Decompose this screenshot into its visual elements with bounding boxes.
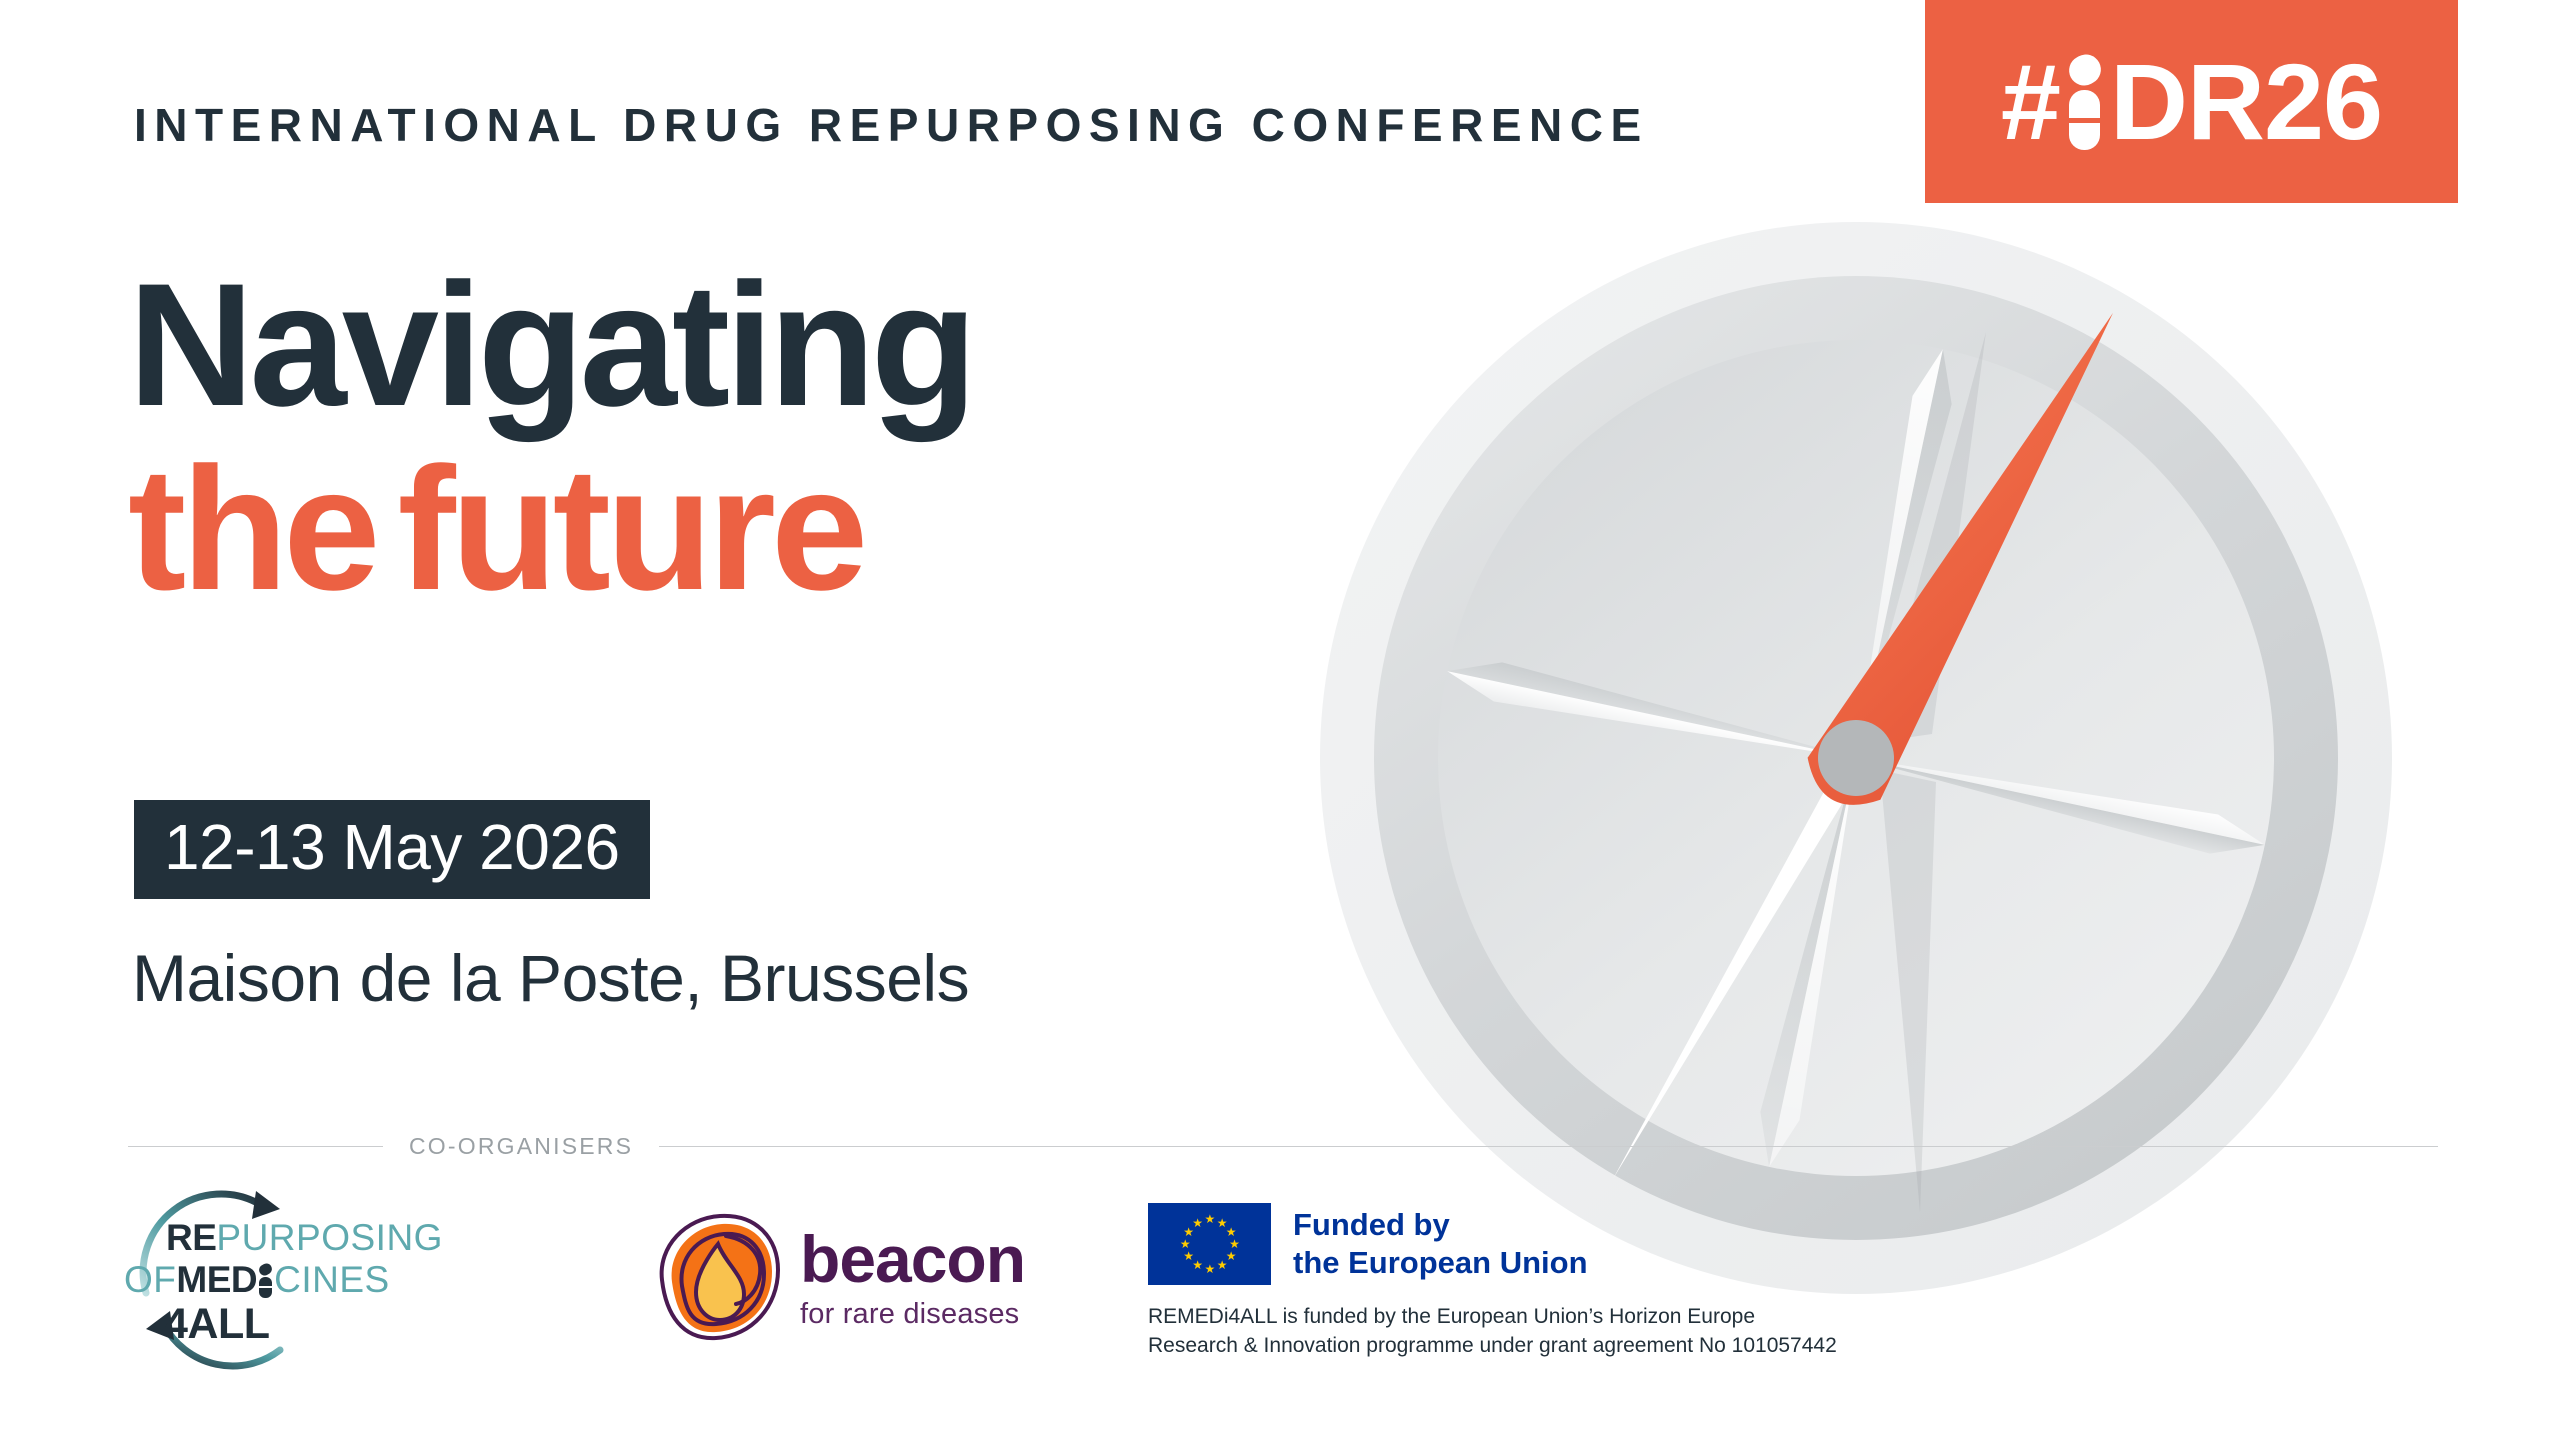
event-date-badge: 12-13 May 2026 xyxy=(134,800,650,899)
eu-funded-text: Funded by the European Union xyxy=(1293,1206,1588,1283)
remedi-pill-stem xyxy=(259,1277,272,1298)
divider-rule-right xyxy=(659,1146,2438,1147)
remedi-cines: CINES xyxy=(274,1259,390,1300)
divider-rule-left xyxy=(128,1146,383,1147)
remedi-line-4all: 4ALL xyxy=(164,1303,270,1346)
remedi4all-logo: REPURPOSING OFMEDCINES 4ALL xyxy=(128,1185,463,1370)
eu-funding-disclaimer: REMEDi4ALL is funded by the European Uni… xyxy=(1148,1303,1788,1361)
beacon-wordmark: beacon for rare diseases xyxy=(800,1226,1025,1329)
eu-disclaimer-line-1: REMEDi4ALL is funded by the European Uni… xyxy=(1148,1303,1788,1332)
hashtag-symbol: # xyxy=(2001,48,2060,156)
event-dates: 12-13 May 2026 xyxy=(164,814,620,881)
pill-i-dot xyxy=(2064,49,2106,91)
remedi-re: RE xyxy=(166,1217,216,1258)
coorganisers-label: CO-ORGANISERS xyxy=(383,1133,659,1160)
remedi-line-repurposing: REPURPOSING xyxy=(166,1219,443,1256)
headline-line-2: thefuture xyxy=(128,444,973,616)
headline-line-1: Navigating xyxy=(128,260,973,432)
hashtag-badge: # DR26 xyxy=(1925,0,2458,203)
beacon-tagline: for rare diseases xyxy=(800,1300,1025,1329)
eu-star-icon: ★ xyxy=(1180,1239,1190,1249)
remedi-pill-dot xyxy=(257,1261,274,1277)
remedi-4all: 4ALL xyxy=(164,1300,270,1348)
eu-funded-line-1: Funded by xyxy=(1293,1206,1588,1244)
pill-i-stem xyxy=(2069,90,2100,150)
headline-word-future: future xyxy=(398,432,864,627)
pill-i-icon xyxy=(2064,54,2104,150)
eu-star-icon: ★ xyxy=(1183,1251,1193,1261)
eu-disclaimer-line-2: Research & Innovation programme under gr… xyxy=(1148,1332,1788,1361)
remedi-line-medicines: OFMEDCINES xyxy=(124,1261,390,1298)
headline: Navigating thefuture xyxy=(128,260,973,615)
remedi4all-wordmark: REPURPOSING OFMEDCINES 4ALL xyxy=(128,1185,463,1370)
remedi-purposing: PURPOSING xyxy=(216,1217,443,1258)
eu-star-icon: ★ xyxy=(1217,1260,1227,1270)
remedi-med: MED xyxy=(176,1259,257,1300)
coorganiser-logo-row: REPURPOSING OFMEDCINES 4ALL beaco xyxy=(128,1185,1788,1370)
poster-canvas: # DR26 INTERNATIONAL DRUG REPURPOSING CO… xyxy=(0,0,2560,1441)
hashtag-suffix: DR26 xyxy=(2110,48,2382,156)
event-venue: Maison de la Poste, Brussels xyxy=(132,940,969,1016)
eu-funding-top: ★★★★★★★★★★★★ Funded by the European Unio… xyxy=(1148,1203,1788,1285)
conference-kicker: INTERNATIONAL DRUG REPURPOSING CONFERENC… xyxy=(134,98,1649,152)
eu-star-icon: ★ xyxy=(1229,1239,1239,1249)
eu-star-icon: ★ xyxy=(1192,1218,1202,1228)
beacon-logo: beacon for rare diseases xyxy=(652,1197,1052,1357)
eu-star-icon: ★ xyxy=(1205,1214,1215,1224)
beacon-flame-icon xyxy=(652,1210,786,1344)
european-union-flag-icon: ★★★★★★★★★★★★ xyxy=(1148,1203,1271,1285)
eu-funded-line-2: the European Union xyxy=(1293,1244,1588,1282)
hashtag-text: # DR26 xyxy=(2001,48,2382,156)
eu-star-icon: ★ xyxy=(1226,1227,1236,1237)
eu-star-icon: ★ xyxy=(1205,1264,1215,1274)
coorganisers-divider: CO-ORGANISERS xyxy=(128,1133,2438,1160)
beacon-title: beacon xyxy=(800,1226,1025,1292)
remedi-pill-i-icon xyxy=(258,1264,273,1298)
eu-funding-block: ★★★★★★★★★★★★ Funded by the European Unio… xyxy=(1148,1203,1788,1361)
headline-word-the: the xyxy=(128,432,376,627)
remedi-of: OF xyxy=(124,1259,176,1300)
